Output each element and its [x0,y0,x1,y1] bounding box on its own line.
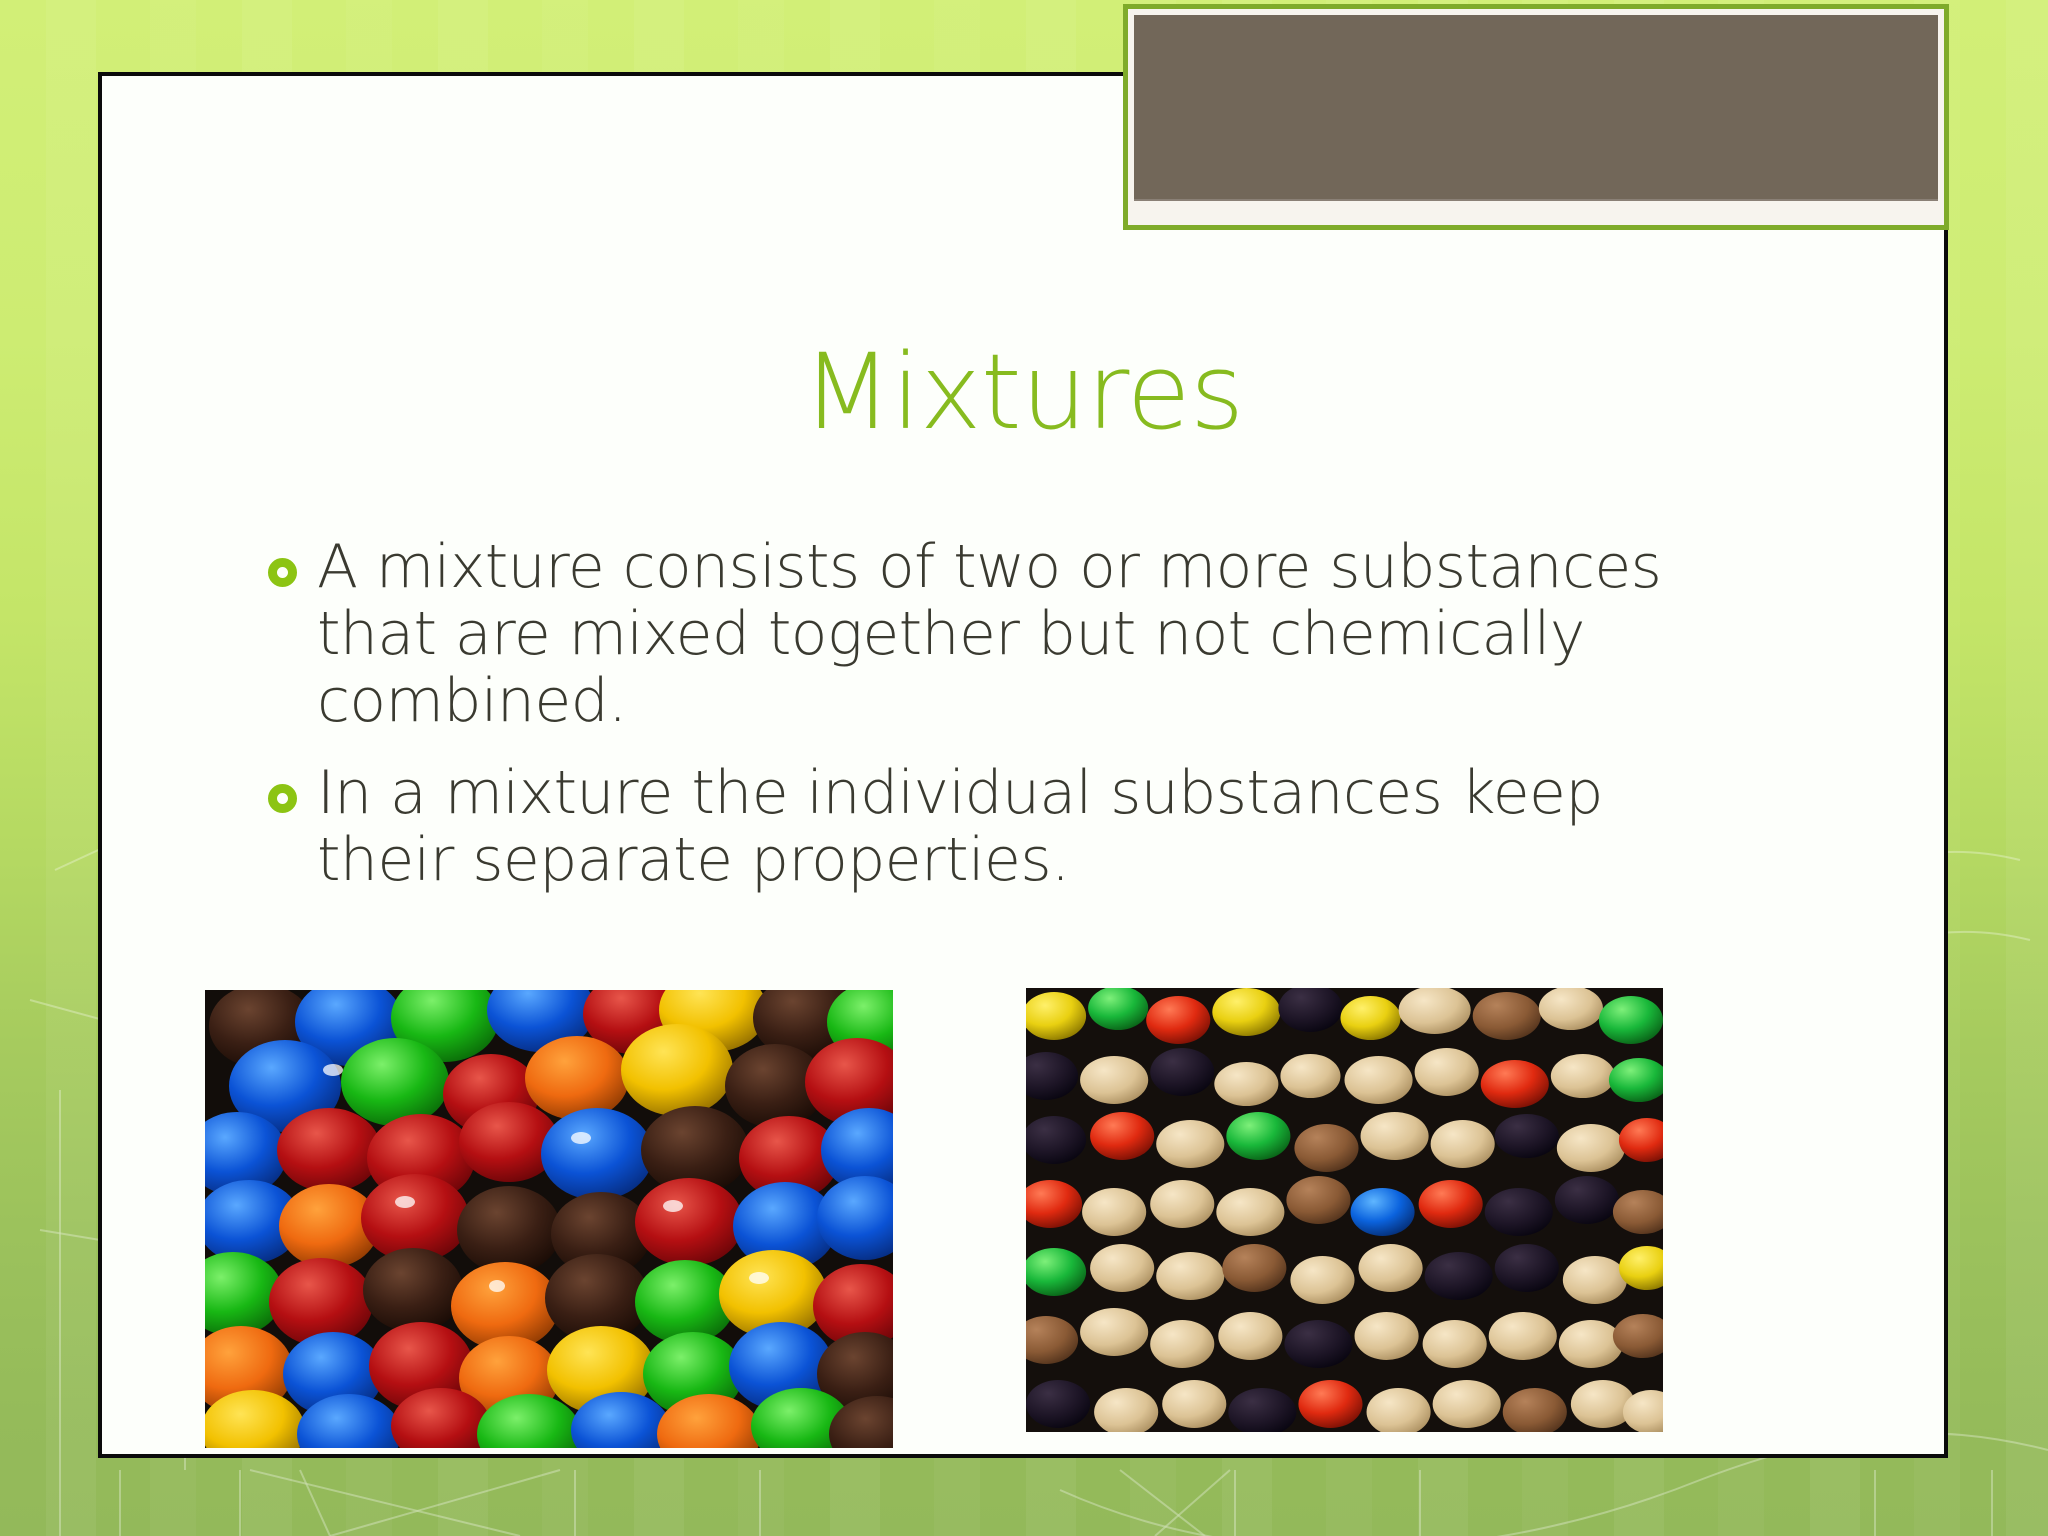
mms-candies-photo [205,990,893,1448]
brown-header-block [1123,4,1949,230]
bullet-list: A mixture consists of two or more substa… [268,534,1688,918]
ring-bullet-icon [268,558,297,587]
brown-header-fill [1134,15,1938,201]
ring-bullet-icon [268,784,297,813]
list-item: In a mixture the individual substances k… [268,760,1688,894]
page-title: Mixtures [98,338,1948,447]
list-item: A mixture consists of two or more substa… [268,534,1688,736]
list-item-label: In a mixture the individual substances k… [317,760,1688,894]
list-item-label: A mixture consists of two or more substa… [317,534,1688,736]
trail-mix-photo [1026,988,1663,1432]
presentation-slide: Mixtures A mixture consists of two or mo… [0,0,2048,1536]
